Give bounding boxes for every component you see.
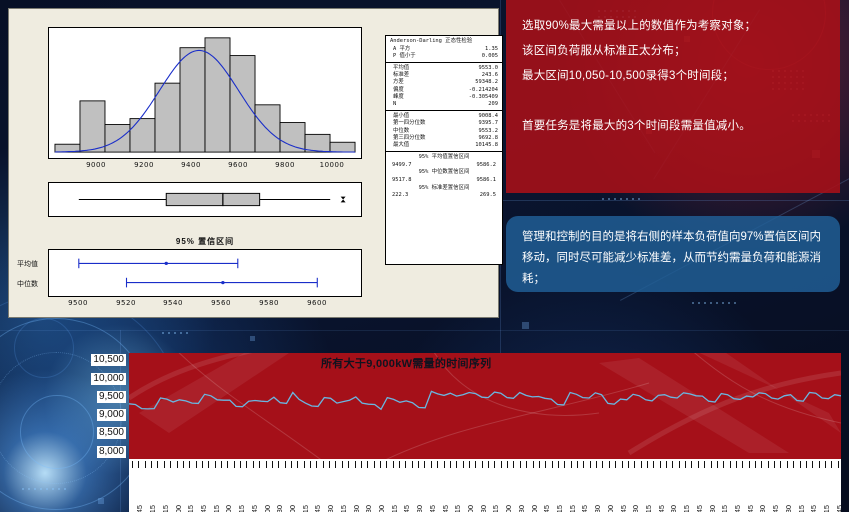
timeseries-x-tick	[386, 461, 387, 468]
timeseries-x-label: 06 13:45	[199, 505, 208, 512]
timeseries-x-label: 03 02:15	[148, 505, 157, 512]
timeseries-x-label: 24 02:15	[644, 505, 653, 512]
stats-value: 9395.7	[479, 120, 498, 127]
timeseries-x-label: 07 07:00	[224, 505, 233, 512]
timeseries-x-tick	[704, 461, 705, 468]
ci-tick-label: 9540	[163, 299, 183, 307]
timeseries-x-tick	[482, 461, 483, 468]
timeseries-x-tick	[361, 461, 362, 468]
timeseries-x-tick	[647, 461, 648, 468]
timeseries-x-label: 22 07:00	[606, 505, 615, 512]
stats-row: 峰度-0.305409	[390, 94, 498, 101]
timeseries-x-tick	[831, 461, 832, 468]
timeseries-x-tick	[291, 461, 292, 468]
stats-row: 方差59348.2	[390, 79, 498, 86]
stats-section-anderson-darling: Anderson-Darling 正态性检验 A 平方1.35P 值小于0.00…	[386, 36, 502, 63]
timeseries-x-label: 28 01:45	[746, 505, 755, 512]
boxplot-chart	[48, 182, 362, 217]
timeseries-x-label: 17 17:30	[479, 505, 488, 512]
timeseries-x-tick	[691, 461, 692, 468]
timeseries-x-tick	[774, 461, 775, 468]
timeseries-y-label: 8,000	[97, 446, 126, 458]
timeseries-x-label: 23 01:45	[619, 505, 628, 512]
timeseries-x-label: 20 02:45	[542, 505, 551, 512]
stats-key: 方差	[390, 79, 404, 86]
timeseries-x-tick	[215, 461, 216, 468]
timeseries-x-tick	[450, 461, 451, 468]
timeseries-x-tick	[393, 461, 394, 468]
timeseries-y-label: 8,500	[97, 427, 126, 439]
timeseries-x-tick	[812, 461, 813, 468]
timeseries-x-tick	[698, 461, 699, 468]
timeseries-x-tick	[310, 461, 311, 468]
timeseries-x-label: 21 01:15	[568, 505, 577, 512]
timeseries-x-tick	[577, 461, 578, 468]
timeseries-x-tick	[348, 461, 349, 468]
timeseries-x-label: 17 02:00	[466, 505, 475, 512]
timeseries-x-tick	[634, 461, 635, 468]
timeseries-x-tick	[539, 461, 540, 468]
histogram-tick-label: 9600	[228, 161, 248, 169]
timeseries-x-tick	[793, 461, 794, 468]
timeseries-chart: 所有大于9,000kW需量的时间序列	[129, 353, 841, 459]
stats-value: 1.35	[485, 46, 498, 53]
timeseries-x-tick	[208, 461, 209, 468]
timeseries-x-tick	[285, 461, 286, 468]
timeseries-x-label: 08 05:45	[250, 505, 259, 512]
timeseries-x-label: 22 02:30	[593, 505, 602, 512]
timeseries-x-label: 25 06:15	[682, 505, 691, 512]
timeseries-x-tick	[240, 461, 241, 468]
stats-row: P 值小于0.005	[390, 53, 498, 60]
timeseries-x-tick	[800, 461, 801, 468]
timeseries-x-tick	[615, 461, 616, 468]
timeseries-x-tick	[246, 461, 247, 468]
timeseries-x-tick	[335, 461, 336, 468]
timeseries-x-tick	[189, 461, 190, 468]
ci-row-label-median: 中位数	[17, 279, 38, 289]
stats-row: 第三四分位数9692.8	[390, 135, 498, 142]
timeseries-x-label: 27 05:45	[733, 505, 742, 512]
stats-value: 59348.2	[475, 79, 498, 86]
stats-key: A 平方	[390, 46, 410, 53]
stats-key: 第一四分位数	[390, 120, 425, 127]
histogram-tick-label: 9800	[275, 161, 295, 169]
histogram-tick-label: 9000	[86, 161, 106, 169]
timeseries-x-tick	[412, 461, 413, 468]
timeseries-x-tick	[641, 461, 642, 468]
stats-value: 0.005	[482, 53, 498, 60]
timeseries-x-label: 15 06:45	[428, 505, 437, 512]
stats-row: 最大值10145.8	[390, 142, 498, 149]
timeseries-x-tick	[787, 461, 788, 468]
timeseries-x-tick	[138, 461, 139, 468]
stats-value: 9692.8	[479, 135, 498, 142]
timeseries-x-tick	[157, 461, 158, 468]
stats-key: P 值小于	[390, 53, 416, 60]
histogram-tick-label: 9200	[134, 161, 154, 169]
decor-square	[250, 336, 255, 341]
timeseries-x-tick	[227, 461, 228, 468]
timeseries-x-tick	[170, 461, 171, 468]
decor-dots	[20, 486, 68, 494]
timeseries-x-tick	[177, 461, 178, 468]
timeseries-x-label: 20 07:15	[555, 505, 564, 512]
stats-section-quantiles: 最小值9008.4第一四分位数9395.7中位数9553.2第三四分位数9692…	[386, 111, 502, 152]
timeseries-x-tick	[266, 461, 267, 468]
timeseries-x-label: 30 03:45	[809, 505, 818, 512]
timeseries-x-tick	[806, 461, 807, 468]
timeseries-x-label: 29 00:45	[771, 505, 780, 512]
timeseries-x-tick	[819, 461, 820, 468]
timeseries-x-label: 31 05:45	[835, 505, 841, 512]
timeseries-x-tick	[342, 461, 343, 468]
timeseries-x-tick	[520, 461, 521, 468]
timeseries-x-label: 12 02:15	[339, 505, 348, 512]
timeseries-x-tick	[329, 461, 330, 468]
decor-dots	[690, 300, 738, 308]
timeseries-x-label: 05 06:00	[174, 505, 183, 512]
timeseries-y-label: 9,000	[97, 409, 126, 421]
timeseries-x-label: 27 01:15	[720, 505, 729, 512]
timeseries-x-tick	[132, 461, 133, 468]
timeseries-x-label: 13 06:00	[377, 505, 386, 512]
timeseries-x-tick	[488, 461, 489, 468]
blue-callout-box: 管理和控制的目的是将右侧的样本负荷值向97%置信区间内移动，同时尽可能减少标准差…	[506, 216, 840, 292]
ci-bounds: 9517.89586.1	[390, 177, 498, 185]
timeseries-x-label: 02 00:45	[135, 505, 144, 512]
stats-row: 标准差243.6	[390, 72, 498, 79]
stats-value: 9553.2	[479, 128, 498, 135]
timeseries-y-label: 10,500	[91, 354, 126, 366]
timeseries-x-tick	[355, 461, 356, 468]
timeseries-x-label: 09 01:00	[263, 505, 272, 512]
timeseries-x-tick	[323, 461, 324, 468]
summary-statistics-table: Anderson-Darling 正态性检验 A 平方1.35P 值小于0.00…	[385, 35, 503, 265]
timeseries-x-tick	[259, 461, 260, 468]
timeseries-x-tick	[253, 461, 254, 468]
timeseries-x-tick	[183, 461, 184, 468]
ci-lower: 222.3	[392, 192, 408, 200]
timeseries-x-label: 10 06:15	[301, 505, 310, 512]
timeseries-x-tick	[431, 461, 432, 468]
anderson-darling-title: Anderson-Darling 正态性检验	[390, 38, 498, 46]
timeseries-x-label: 23 06:30	[631, 505, 640, 512]
stats-value: 243.6	[482, 72, 498, 79]
stats-key: 中位数	[390, 128, 409, 135]
timeseries-x-label: 26 07:30	[708, 505, 717, 512]
timeseries-x-tick	[526, 461, 527, 468]
red-callout-line: 首要任务是将最大的3个时间段需量值减小。	[522, 114, 830, 139]
timeseries-x-tick	[405, 461, 406, 468]
timeseries-x-label: 11 01:45	[313, 505, 322, 512]
timeseries-x-tick	[742, 461, 743, 468]
timeseries-x-tick	[469, 461, 470, 468]
timeseries-x-tick	[444, 461, 445, 468]
timeseries-x-tick	[780, 461, 781, 468]
timeseries-x-tick	[558, 461, 559, 468]
timeseries-x-tick	[475, 461, 476, 468]
boxplot-svg	[49, 183, 361, 216]
stats-value: 10145.8	[475, 142, 498, 149]
stats-value: 209	[488, 101, 498, 108]
red-callout-line: 选取90%最大需量以上的数值作为考察对象；	[522, 14, 830, 39]
ci-tick-label: 9600	[307, 299, 327, 307]
timeseries-x-tick	[825, 461, 826, 468]
ci-row-label-mean: 平均值	[17, 259, 38, 269]
timeseries-x-tick	[622, 461, 623, 468]
stats-row: N209	[390, 101, 498, 108]
red-callout-text: 选取90%最大需量以上的数值作为考察对象；该区间负荷服从标准正太分布；最大区间1…	[522, 14, 830, 139]
timeseries-x-tick	[761, 461, 762, 468]
red-callout-line: 最大区间10,050-10,500录得3个时间段；	[522, 64, 830, 89]
stats-key: 偏度	[390, 87, 404, 94]
timeseries-x-tick	[380, 461, 381, 468]
ci-chart-title: 95% 置信区间	[48, 236, 362, 247]
timeseries-x-label: 31 00:15	[822, 505, 831, 512]
timeseries-x-label: 10 02:00	[288, 505, 297, 512]
timeseries-x-tick	[316, 461, 317, 468]
ci-tick-label: 9560	[211, 299, 231, 307]
blue-callout-text: 管理和控制的目的是将右侧的样本负荷值向97%置信区间内移动，同时尽可能减少标准差…	[522, 227, 826, 290]
red-callout-box: 选取90%最大需量以上的数值作为考察对象；该区间负荷服从标准正太分布；最大区间1…	[506, 0, 840, 193]
timeseries-x-tick	[513, 461, 514, 468]
histogram-svg	[49, 28, 361, 158]
timeseries-x-tick	[723, 461, 724, 468]
timeseries-x-label: 25 01:30	[669, 505, 678, 512]
timeseries-x-tick	[736, 461, 737, 468]
timeseries-x-tick	[196, 461, 197, 468]
timeseries-x-tick	[501, 461, 502, 468]
ci-lower: 9499.7	[392, 162, 411, 170]
timeseries-x-label: 05 02:15	[161, 505, 170, 512]
timeseries-x-tick	[374, 461, 375, 468]
timeseries-x-tick	[571, 461, 572, 468]
stats-value: 9008.4	[479, 113, 498, 120]
timeseries-x-tick	[424, 461, 425, 468]
timeseries-x-tick	[666, 461, 667, 468]
ci-upper: 9586.1	[477, 177, 496, 185]
timeseries-y-label: 9,500	[97, 391, 126, 403]
stats-value: -0.305409	[469, 94, 498, 101]
ci-upper: 269.5	[480, 192, 496, 200]
timeseries-x-tick	[545, 461, 546, 468]
timeseries-x-tick	[552, 461, 553, 468]
stats-key: 第三四分位数	[390, 135, 425, 142]
timeseries-x-label: 16 06:15	[453, 505, 462, 512]
ci-title: 95% 平均值置信区间	[390, 154, 498, 162]
timeseries-x-label: 21 05:45	[580, 505, 589, 512]
timeseries-x-tick	[234, 461, 235, 468]
timeseries-x-label: 28 05:30	[758, 505, 767, 512]
timeseries-x-label: 29 17:15	[797, 505, 806, 512]
timeseries-x-label: 15 02:30	[415, 505, 424, 512]
timeseries-x-label: 18 07:00	[504, 505, 513, 512]
timeseries-x-tick	[278, 461, 279, 468]
timeseries-x-label: 07 03:15	[212, 505, 221, 512]
timeseries-x-label: 26 02:45	[695, 505, 704, 512]
red-callout-line	[522, 89, 830, 114]
timeseries-x-tick	[399, 461, 400, 468]
timeseries-title: 所有大于9,000kW需量的时间序列	[321, 355, 491, 371]
timeseries-x-tick	[730, 461, 731, 468]
decor-line	[500, 200, 849, 201]
timeseries-x-label: 24 06:45	[657, 505, 666, 512]
stats-row: 中位数9553.2	[390, 128, 498, 135]
ci-lower: 9517.8	[392, 177, 411, 185]
timeseries-x-label: 12 06:30	[352, 505, 361, 512]
timeseries-x-label: 29 04:30	[784, 505, 793, 512]
timeseries-x-tick	[838, 461, 839, 468]
timeseries-x-label: 18 03:15	[491, 505, 500, 512]
timeseries-x-tick	[685, 461, 686, 468]
timeseries-x-tick	[590, 461, 591, 468]
timeseries-x-tick	[768, 461, 769, 468]
stats-row: 偏度-0.214204	[390, 87, 498, 94]
timeseries-x-label: 16 01:45	[441, 505, 450, 512]
stats-key: N	[390, 101, 396, 108]
timeseries-x-label: 06 02:15	[186, 505, 195, 512]
timeseries-x-tick	[437, 461, 438, 468]
timeseries-x-axis: 02 00:4503 02:1505 02:1505 06:0006 02:15…	[129, 459, 841, 512]
stats-row: A 平方1.35	[390, 46, 498, 53]
timeseries-x-tick	[653, 461, 654, 468]
timeseries-x-label: 08 01:15	[237, 505, 246, 512]
timeseries-x-tick	[151, 461, 152, 468]
timeseries-x-label: 11 13:30	[326, 505, 335, 512]
decor-dots	[600, 196, 642, 204]
decor-square	[98, 498, 104, 504]
ci-title: 95% 中位数置信区间	[390, 169, 498, 177]
timeseries-x-tick	[583, 461, 584, 468]
decor-line	[0, 330, 849, 331]
histogram-chart	[48, 27, 362, 159]
timeseries-x-tick	[272, 461, 273, 468]
stats-value: -0.214204	[469, 87, 498, 94]
timeseries-x-label: 19 06:00	[530, 505, 539, 512]
timeseries-x-tick	[367, 461, 368, 468]
stats-value: 9553.0	[479, 65, 498, 72]
timeseries-x-tick	[564, 461, 565, 468]
histogram-tick-label: 10000	[320, 161, 345, 169]
timeseries-x-tick	[507, 461, 508, 468]
ci-title: 95% 标准差置信区间	[390, 185, 498, 193]
timeseries-x-tick	[202, 461, 203, 468]
timeseries-x-tick	[164, 461, 165, 468]
timeseries-y-axis: 10,50010,0009,5009,0008,5008,000	[60, 330, 126, 465]
timeseries-x-tick	[628, 461, 629, 468]
timeseries-x-tick	[418, 461, 419, 468]
timeseries-x-tick	[679, 461, 680, 468]
ci-upper: 9586.2	[477, 162, 496, 170]
timeseries-x-tick	[596, 461, 597, 468]
red-callout-line: 该区间负荷服从标准正太分布；	[522, 39, 830, 64]
timeseries-x-tick	[609, 461, 610, 468]
timeseries-x-tick	[463, 461, 464, 468]
timeseries-x-label: 14 05:45	[402, 505, 411, 512]
timeseries-x-label: 14 01:15	[390, 505, 399, 512]
histogram-tick-label: 9400	[181, 161, 201, 169]
ci-tick-label: 9500	[68, 299, 88, 307]
stats-key: 峰度	[390, 94, 404, 101]
timeseries-x-tick	[672, 461, 673, 468]
timeseries-x-tick	[602, 461, 603, 468]
confidence-interval-chart	[48, 249, 362, 297]
ci-svg	[49, 250, 361, 296]
ci-tick-label: 9520	[116, 299, 136, 307]
timeseries-x-tick	[711, 461, 712, 468]
decor-square	[522, 322, 529, 329]
timeseries-x-tick	[660, 461, 661, 468]
timeseries-x-tick	[297, 461, 298, 468]
timeseries-x-label: 09 05:30	[275, 505, 284, 512]
minitab-graphical-summary-panel: 9000920094009600980010000 95% 置信区间	[8, 8, 499, 318]
stats-row: 第一四分位数9395.7	[390, 120, 498, 127]
timeseries-x-tick	[221, 461, 222, 468]
timeseries-x-tick	[717, 461, 718, 468]
timeseries-x-tick	[145, 461, 146, 468]
timeseries-x-tick	[456, 461, 457, 468]
stats-key: 最大值	[390, 142, 409, 149]
timeseries-x-tick	[755, 461, 756, 468]
timeseries-y-label: 10,000	[91, 373, 126, 385]
ci-bounds: 222.3269.5	[390, 192, 498, 200]
ci-tick-label: 9580	[259, 299, 279, 307]
stats-section-moments: 平均值9553.0标准差243.6方差59348.2偏度-0.214204峰度-…	[386, 63, 502, 111]
timeseries-x-label: 19 01:30	[517, 505, 526, 512]
stats-section-confidence-intervals: 95% 平均值置信区间 9499.79586.295% 中位数置信区间 9517…	[386, 152, 502, 202]
timeseries-x-tick	[749, 461, 750, 468]
timeseries-x-label: 13 01:30	[364, 505, 373, 512]
decor-dots	[160, 330, 190, 338]
timeseries-x-tick	[304, 461, 305, 468]
timeseries-x-tick	[533, 461, 534, 468]
timeseries-x-tick	[494, 461, 495, 468]
